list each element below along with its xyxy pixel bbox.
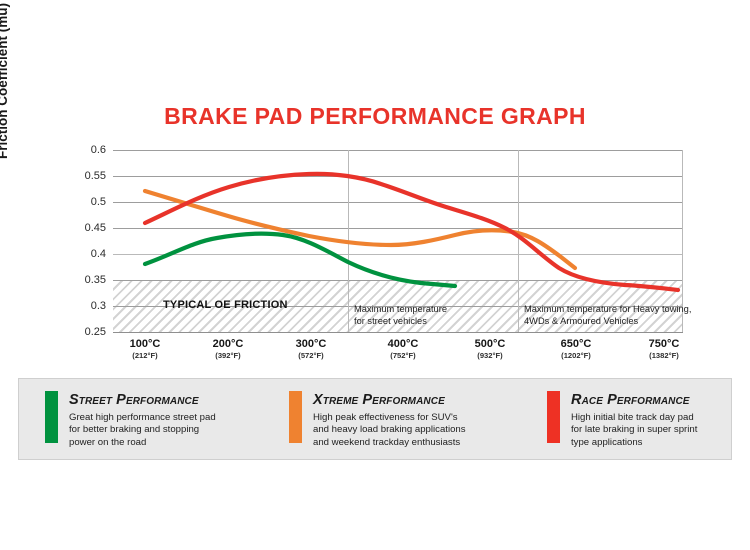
ytick-0.25: 0.25 [85,326,106,338]
note-street-max-temp: Maximum temperature for street vehicles [354,304,447,327]
ytick-0.4: 0.4 [91,248,106,260]
xtick-200c-fahrenheit: (392°F) [213,351,244,360]
chart-page: BRAKE PAD PERFORMANCE GRAPH Friction Coe… [0,0,750,550]
xtick-500c: 500°C (932°F) [475,338,506,360]
xtick-650c: 650°C (1202°F) [561,338,592,360]
page-title: BRAKE PAD PERFORMANCE GRAPH [0,103,750,130]
xtick-300c: 300°C (572°F) [296,338,327,360]
ytick-0.45: 0.45 [85,222,106,234]
plot-area: 0.6 0.55 0.5 0.45 0.4 0.35 0.3 0.25 TYPI… [113,150,683,332]
legend-text-race: Race Performance High initial bite track… [571,391,697,449]
ytick-0.3: 0.3 [91,300,106,312]
xtick-500c-celsius: 500°C [475,338,506,350]
legend-item-street[interactable]: Street Performance Great high performanc… [19,379,281,459]
xtick-300c-celsius: 300°C [296,338,327,350]
xtick-650c-celsius: 650°C [561,338,592,350]
ytick-0.6: 0.6 [91,144,106,156]
xtick-750c-fahrenheit: (1382°F) [649,351,680,360]
xtick-100c-fahrenheit: (212°F) [130,351,161,360]
xtick-100c: 100°C (212°F) [130,338,161,360]
xtick-400c-fahrenheit: (752°F) [388,351,419,360]
xtick-200c: 200°C (392°F) [213,338,244,360]
legend-title-race: Race Performance [571,392,697,408]
xtick-750c-celsius: 750°C [649,338,680,350]
note-street-max-line2: for street vehicles [354,316,427,326]
legend-description-street: Great high performance street pad for be… [69,412,216,449]
series-line-street [145,234,455,286]
ytick-0.35: 0.35 [85,274,106,286]
xtick-100c-celsius: 100°C [130,338,161,350]
xtick-300c-fahrenheit: (572°F) [296,351,327,360]
legend-text-street: Street Performance Great high performanc… [69,391,216,449]
note-heavy-max-line1: Maximum temperature for Heavy towing, [524,304,691,314]
note-street-max-line1: Maximum temperature [354,304,447,314]
x-axis-line [113,332,683,333]
legend-swatch-race [547,391,560,443]
note-heavy-max-temp: Maximum temperature for Heavy towing, 4W… [524,304,691,327]
xtick-400c-celsius: 400°C [388,338,419,350]
legend-description-xtreme: High peak effectiveness for SUV's and he… [313,412,466,449]
legend-description-race: High initial bite track day pad for late… [571,412,697,449]
xtick-500c-fahrenheit: (932°F) [475,351,506,360]
y-axis-label: Friction Coefficient (mu) [0,0,14,172]
xtick-650c-fahrenheit: (1202°F) [561,351,592,360]
legend-swatch-street [45,391,58,443]
xtick-400c: 400°C (752°F) [388,338,419,360]
legend-text-xtreme: Xtreme Performance High peak effectivene… [313,391,466,449]
xtick-200c-celsius: 200°C [213,338,244,350]
ytick-0.5: 0.5 [91,196,106,208]
legend-title-street: Street Performance [69,392,216,408]
legend-item-xtreme[interactable]: Xtreme Performance High peak effectivene… [281,379,537,459]
series-line-race [145,174,678,290]
note-heavy-max-line2: 4WDs & Armoured Vehicles [524,316,638,326]
xtick-750c: 750°C (1382°F) [649,338,680,360]
legend-panel: Street Performance Great high performanc… [18,378,732,460]
ytick-0.55: 0.55 [85,170,106,182]
legend-swatch-xtreme [289,391,302,443]
legend-title-xtreme: Xtreme Performance [313,392,466,408]
legend-item-race[interactable]: Race Performance High initial bite track… [537,379,727,459]
